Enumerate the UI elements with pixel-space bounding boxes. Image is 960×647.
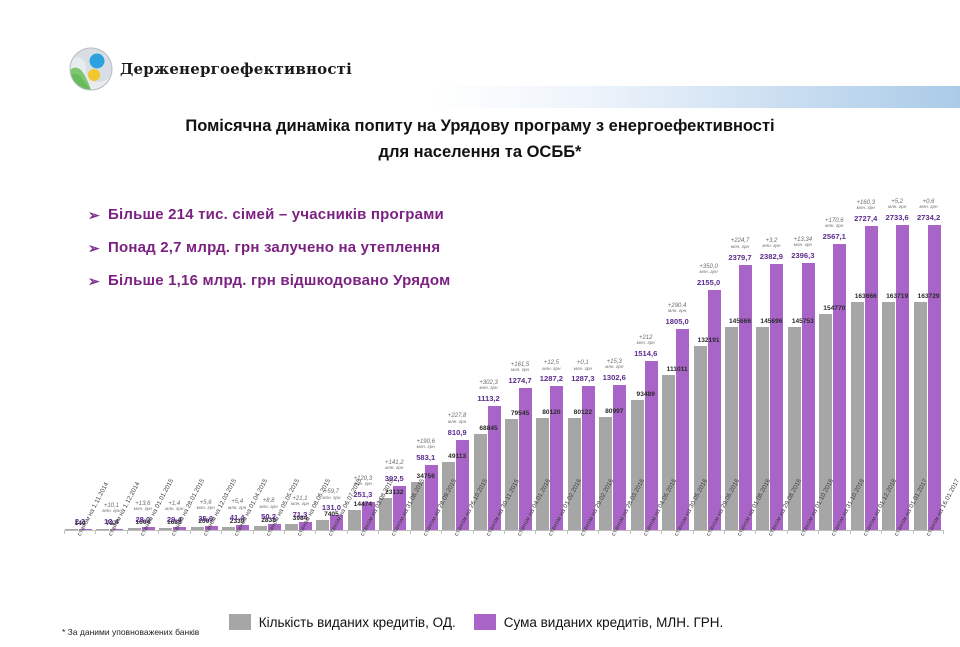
chart-column: 200735,0+5,6млн. грн [191,180,221,530]
bar-label-credit-sum: 2155,0 [697,278,720,287]
bar-credit-sum [896,225,909,530]
legend-item-credit-count: Кількість виданих кредитів, ОД. [229,614,456,630]
legend-swatch-grey [229,614,251,630]
bar-label-credit-sum: 2567,1 [823,232,846,241]
bar-delta-annotation: +0,1млн. грн [574,360,592,371]
bar-label-credit-sum: 2734,2 [917,213,940,222]
bar-delta-annotation: +13,34млн. грн [794,237,813,248]
chart-column: 1110111805,0+290,4млн. грн [662,180,692,530]
chart-column: 283850,2+8,8млн. грн [254,180,284,530]
legend-swatch-purple [474,614,496,630]
title-line-2: для населення та ОСББ* [0,139,960,165]
bar-credit-sum [865,226,878,530]
chart-column: 795451274,7+161,5млн. грн [505,180,535,530]
chart-column: 14474251,3+120,3млн. грн [348,180,378,530]
chart-column: 233941,4+5,4млн. грн [222,180,252,530]
chart-column: 809971302,6+15,3млн. грн [599,180,629,530]
bar-delta-annotation: +21,1млн. грн [291,496,309,507]
bar-delta-annotation: +350,0млн. грн [699,264,718,275]
bar-label-credit-count: 68845 [479,425,497,432]
bar-credit-sum [645,361,658,530]
bar-label-credit-sum: 1274,7 [508,376,531,385]
header-gradient-band [430,86,960,108]
chart-column: 1402,3 [65,180,95,530]
bar-credit-count [599,417,612,530]
bar-label-credit-sum: 583,1 [416,453,435,462]
bar-label-credit-sum: 1805,0 [666,317,689,326]
brand-name: Держенергоефективності [120,60,352,78]
bar-label-credit-count: 80122 [574,409,592,416]
chart-column: 34756583,1+190,6млн. грн [411,180,441,530]
bar-credit-count [536,418,549,530]
chart-column: 801221287,3+0,1млн. грн [568,180,598,530]
bar-delta-annotation: +227,8млн. грн [448,413,467,424]
bar-delta-annotation: +5,6млн. грн [197,500,215,511]
bar-label-credit-count: 14474 [354,501,372,508]
bar-credit-count [316,520,329,530]
bar-label-credit-count: 93489 [637,391,655,398]
bar-label-credit-sum: 1287,2 [540,374,563,383]
bar-delta-annotation: +160,3млн. грн [856,200,875,211]
energy-efficiency-logo-icon [68,46,114,92]
chart-column: 23132392,5+141,2млн. грн [379,180,409,530]
bar-label-credit-count: 163666 [855,293,877,300]
bar-delta-annotation: +224,7млн. грн [731,238,750,249]
bar-delta-annotation: +170,6млн. грн [825,218,844,229]
bar-label-credit-count: 145666 [729,318,751,325]
bar-delta-annotation: +12,5млн. грн [542,360,560,371]
chart-column: 168829,4+1,4млн. грн [159,180,189,530]
bar-label-credit-count: 154770 [823,305,845,312]
bar-label-credit-count: 163719 [886,293,908,300]
legend-item-credit-sum: Сума виданих кредитів, МЛН. ГРН. [474,614,724,630]
bar-delta-annotation: +3,2млн. грн [762,238,780,249]
bar-credit-sum [802,263,815,530]
chart-column: 801201287,2+12,5млн. грн [536,180,566,530]
bar-delta-annotation: +212млн. грн [637,335,655,346]
bar-label-credit-count: 132191 [698,337,720,344]
chart-column: 1637292734,2+0,6млн. грн [914,180,944,530]
page-title: Помісячна динаміка попиту на Урядову про… [0,113,960,165]
bar-delta-annotation: +302,3млн. грн [479,380,498,391]
bar-label-credit-sum: 2396,3 [791,251,814,260]
x-axis-labels: станом на 1.11.2014станом на 1.12.2014ст… [64,534,944,612]
bar-label-credit-count: 145753 [792,318,814,325]
bar-label-credit-sum: 1302,6 [603,373,626,382]
bar-delta-annotation: +1,4млн. грн [165,501,183,512]
chart-column: 49113810,9+227,8млн. грн [442,180,472,530]
bar-credit-count [568,418,581,530]
bar-label-credit-sum: 810,9 [448,428,467,437]
bar-label-credit-count: 79545 [511,410,529,417]
chart-column: 1456662379,7+224,7млн. грн [725,180,755,530]
bar-credit-sum [708,290,721,530]
chart-column: 1547702567,1+170,6млн. грн [819,180,849,530]
bar-delta-annotation: +15,3млн. грн [605,359,623,370]
bar-label-credit-sum: 2379,7 [728,253,751,262]
footnote: * За даними уповноважених банків [62,627,199,637]
bar-label-credit-count: 145696 [760,318,782,325]
bar-label-credit-count: 111011 [667,366,688,373]
chart-column: 1637192733,6+5,2млн. грн [882,180,912,530]
chart-column: 1456962382,9+3,2млн. грн [756,180,786,530]
chart-column: 934891514,6+212млн. грн [631,180,661,530]
bar-label-credit-count: 49113 [448,453,466,460]
bar-delta-annotation: +161,5млн. грн [511,362,530,373]
bar-credit-sum [928,225,941,530]
chart-column: 398471,3+21,1млн. грн [285,180,315,530]
bar-credit-sum [770,264,783,530]
bar-credit-count [348,510,361,530]
chart-column: 1457532396,3+13,34млн. грн [788,180,818,530]
legend-label-credit-count: Кількість виданих кредитів, ОД. [259,615,456,630]
legend-label-credit-sum: Сума виданих кредитів, МЛН. ГРН. [504,615,724,630]
chart-column: 160428,0+13,6млн. грн [128,180,158,530]
chart-plot-area: 1402,373712,4+10,1млн. грн160428,0+13,6м… [64,180,944,530]
bar-delta-annotation: +5,4млн. грн [228,499,246,510]
bar-delta-annotation: +141,2млн. грн [385,460,404,471]
bar-delta-annotation: +13,6млн. грн [134,501,152,512]
bar-credit-sum [739,265,752,530]
chart-column: 1636662727,4+160,3млн. грн [851,180,881,530]
bar-delta-annotation: +190,6млн. грн [416,439,435,450]
bar-credit-count [631,400,644,530]
bar-credit-sum [676,329,689,530]
bar-label-credit-count: 80997 [605,408,623,415]
page-header: Держенергоефективності [0,0,960,108]
bar-label-credit-sum: 2727,4 [854,214,877,223]
chart-column: 7405131,0+59,7млн. грн [316,180,346,530]
bar-label-credit-count: 80120 [542,409,560,416]
bar-delta-annotation: +5,2млн. грн [888,199,906,210]
bar-label-credit-count: 163729 [918,293,940,300]
bar-delta-annotation: +0,6млн. грн [919,199,937,210]
bar-label-credit-sum: 1113,2 [477,394,499,403]
bar-label-credit-sum: 1287,3 [571,374,594,383]
chart-column: 1321912155,0+350,0млн. грн [694,180,724,530]
bar-delta-annotation: +8,8млн. грн [259,498,277,509]
bar-credit-count [505,419,518,530]
chart-column: 73712,4+10,1млн. грн [96,180,126,530]
bar-chart: 1402,373712,4+10,1млн. грн160428,0+13,6м… [64,180,944,530]
bar-label-credit-sum: 2382,9 [760,252,783,261]
bar-delta-annotation: +290,4млн. грн [668,303,687,314]
bar-credit-sum [833,244,846,530]
bar-label-credit-sum: 2733,6 [886,213,909,222]
bar-label-credit-sum: 1514,6 [634,349,657,358]
chart-column: 688451113,2+302,3млн. грн [474,180,504,530]
title-line-1: Помісячна динаміка попиту на Урядову про… [0,113,960,139]
